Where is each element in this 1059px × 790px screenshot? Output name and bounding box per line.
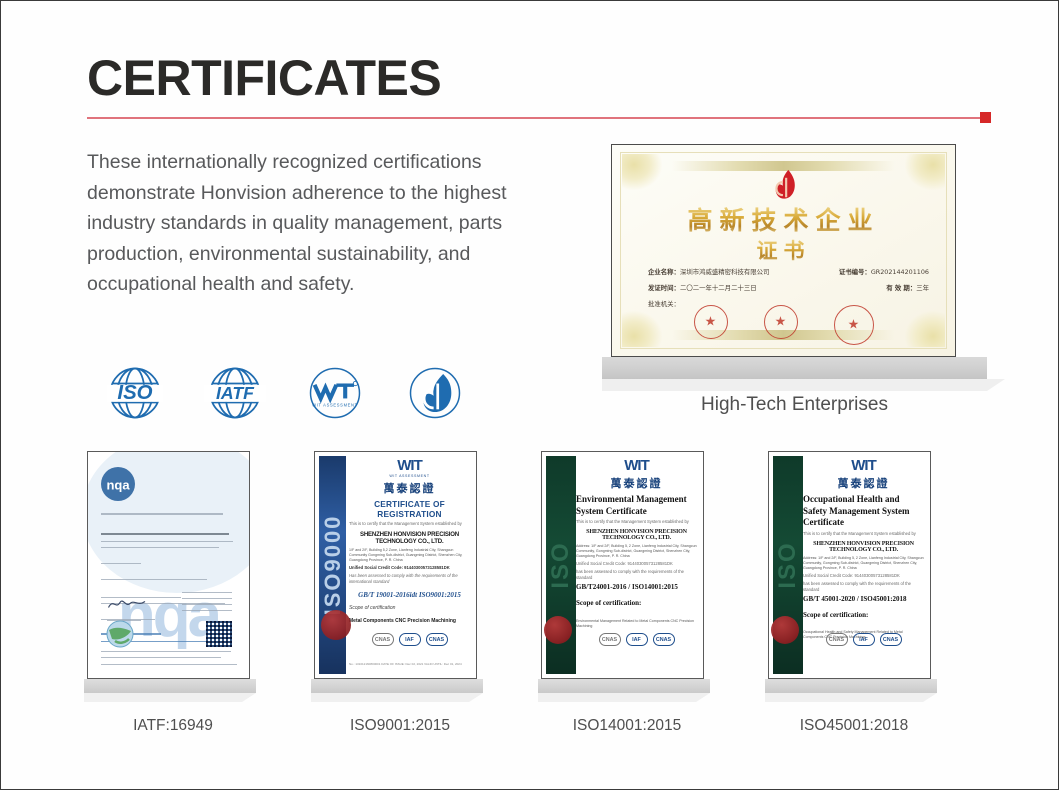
accreditation-badges: CNAS IAF CNAS [803, 633, 924, 646]
certificate-company: SHENZHEN HONVISION PRECISION TECHNOLOGY … [576, 529, 697, 541]
wit-logo-text: WIT [803, 458, 924, 473]
field-validity: 有 效 期：三年 [886, 283, 929, 292]
accreditation-badges: CNAS IAF CNAS [576, 633, 697, 646]
red-seal-stamp [544, 616, 572, 644]
certificate-scope-heading: Scope of certification: [576, 598, 697, 610]
certificate-standard: GB/T 45001-2020 / ISO45001:2018 [803, 595, 924, 603]
iatf-logo-icon: IATF [201, 359, 269, 427]
certificate-subline: This is to certify that the Management S… [576, 519, 697, 525]
field-issue-date: 发证时间：二〇二一年十二月二十三日 [648, 283, 757, 292]
issuer-cn-name: 萬泰認證 [349, 480, 470, 496]
signature-icon [107, 597, 147, 611]
intro-paragraph: These internationally recognized certifi… [87, 147, 567, 300]
iaf-badge: IAF [626, 633, 648, 646]
red-seal-stamp [694, 305, 728, 339]
iso45001-certificate-image: ISO WIT 萬泰認證 Occupational Health and Saf… [768, 451, 931, 679]
certificate-label-iso45001: ISO45001:2018 [768, 717, 940, 735]
iso-logo-icon: ISO [101, 359, 169, 427]
certificate-assessed-line: has been assessed to comply with the req… [803, 581, 924, 593]
gold-corner-ornament [622, 154, 662, 190]
iso-sidebar-text: ISO [774, 541, 802, 588]
certificate-grid: nqa nqa [87, 451, 987, 735]
certificates-page: CERTIFICATES These internationally recog… [0, 0, 1059, 790]
accreditation-badges: CNAS IAF CNAS [349, 633, 470, 646]
svg-text:ISO: ISO [117, 382, 152, 404]
featured-certificate[interactable]: 高新技术企业 证书 企业名称：深圳市鸿威盛精密科技有限公司 证书编号：GR202… [602, 144, 987, 379]
iso9000-sidebar-text: ISO9000 [320, 515, 346, 616]
featured-cn-title: 高新技术企业 [612, 201, 955, 237]
certificate-scope-heading: Scope of certification [349, 605, 470, 611]
red-seal-stamp [764, 305, 798, 339]
cnas-mark-icon: CNAS [826, 633, 848, 646]
svg-text:WIT ASSESSMENT: WIT ASSESSMENT [312, 403, 358, 408]
certificate-subline: This is to certify that the Management S… [803, 531, 924, 537]
qr-code-icon [206, 621, 232, 647]
nqa-logo-icon: nqa [101, 467, 135, 501]
iso14001-certificate-image: ISO WIT 萬泰認證 Environmental Management Sy… [541, 451, 704, 679]
wit-logo-text: WIT [576, 458, 697, 473]
iso45001-body: WIT 萬泰認證 Occupational Health and Safety … [803, 458, 924, 672]
globe-icon [105, 619, 135, 649]
red-seal-stamp [771, 616, 799, 644]
certificate-item-iso45001[interactable]: ISO WIT 萬泰認證 Occupational Health and Saf… [768, 451, 940, 735]
iso14001-body: WIT 萬泰認證 Environmental Management System… [576, 458, 697, 672]
cp-flame-logo-icon [401, 359, 469, 427]
certificate-heading: Environmental Management System Certific… [576, 494, 697, 517]
certificate-item-iso14001[interactable]: ISO WIT 萬泰認證 Environmental Management Sy… [541, 451, 713, 735]
gold-corner-ornament [905, 154, 945, 190]
iso9001-certificate-image: ISO9000 WIT WIT ASSESSMENT 萬泰認證 CERTIFIC… [314, 451, 477, 679]
iso-sidebar-text: ISO [547, 541, 575, 588]
cnas-mark-icon: CNAS [599, 633, 621, 646]
certificate-item-iso9001[interactable]: ISO9000 WIT WIT ASSESSMENT 萬泰認證 CERTIFIC… [314, 451, 486, 735]
certificate-heading: Occupational Health and Safety Managemen… [803, 494, 924, 529]
red-seal-stamp [834, 305, 874, 345]
certificate-standard: GB/T24001-2016 / ISO14001:2015 [576, 583, 697, 591]
wit-logo-subtext: WIT ASSESSMENT [349, 474, 470, 478]
featured-stamps [612, 305, 955, 345]
certificate-standard: GB/T 19001-2016idt ISO9001:2015 [349, 591, 470, 599]
iso9001-body: WIT WIT ASSESSMENT 萬泰認證 CERTIFICATE OF R… [349, 458, 470, 672]
iaf-badge: IAF [853, 633, 875, 646]
title-divider-endcap [980, 112, 991, 123]
cnas-badge: CNAS [653, 633, 675, 646]
accreditation-logo-row: ISO IATF WIT ASSESSMENT [101, 359, 469, 427]
certificate-assessed-line: Has been assessed to comply with the req… [349, 573, 470, 585]
certificate-label-iatf: IATF:16949 [87, 717, 259, 735]
cnas-badge: CNAS [426, 633, 448, 646]
certificate-address: Address: 1/F and 2/F, Building 5, 2 Zone… [803, 556, 924, 571]
featured-shelf [602, 357, 987, 379]
iaf-badge: IAF [399, 633, 421, 646]
certificate-label-iso14001: ISO14001:2015 [541, 717, 713, 735]
cnas-badge: CNAS [880, 633, 902, 646]
certificate-scope-heading: Scope of certification: [803, 610, 924, 622]
certificate-assessed-line: has been assessed to comply with the req… [576, 569, 697, 581]
wit-logo-icon: WIT ASSESSMENT [301, 359, 369, 427]
issuer-cn-name: 萬泰認證 [803, 475, 924, 491]
certificate-address: 1/F and 2/F, Building 5,2 Zone, Lianfeng… [349, 548, 470, 563]
page-title: CERTIFICATES [87, 53, 441, 103]
svg-text:IATF: IATF [216, 383, 255, 403]
certificate-footer: No.: 131012160800001 DATE OF ISSUE: Dec … [349, 662, 470, 666]
issuer-cn-name: 萬泰認證 [576, 475, 697, 491]
certificate-item-iatf[interactable]: nqa nqa [87, 451, 259, 735]
certificate-label-iso9001: ISO9001:2015 [314, 717, 486, 735]
certificate-shelf [311, 679, 483, 693]
featured-cn-subtitle: 证书 [612, 235, 955, 265]
certificate-credit-code: Unified Social Credit Code: 914403005731… [803, 573, 924, 579]
certificate-credit-code: Unified Social Credit Code: 914403005731… [349, 565, 470, 571]
title-divider [87, 117, 986, 119]
certificate-scope: Metal Components CNC Precision Machining [349, 618, 470, 624]
certificate-company: SHENZHEN HONVISION PRECISION TECHNOLOGY … [803, 541, 924, 553]
certificate-heading: CERTIFICATE OF REGISTRATION [349, 499, 470, 519]
certificate-shelf [84, 679, 256, 693]
certificate-scope: Environmental Management Related to Meta… [576, 619, 697, 629]
cnas-mark-icon: CNAS [372, 633, 394, 646]
cp-flame-emblem-icon [764, 167, 804, 203]
wit-logo-text: WIT [349, 458, 470, 473]
certificate-shelf [538, 679, 710, 693]
certificate-company: SHENZHEN HONVISION PRECISION TECHNOLOGY … [349, 531, 470, 545]
nqa-certificate-body: nqa nqa [93, 457, 244, 673]
certificate-address: Address: 1/F and 2/F, Building 5, 2 Zone… [576, 544, 697, 559]
iso9000-sidebar: ISO9000 [319, 456, 346, 674]
featured-caption: High-Tech Enterprises [602, 394, 987, 416]
certificate-credit-code: Unified Social Credit Code: 914403005731… [576, 561, 697, 567]
certificate-shelf [765, 679, 937, 693]
field-company: 企业名称：深圳市鸿威盛精密科技有限公司 [648, 267, 769, 276]
field-cert-no: 证书编号：GR202144201106 [839, 267, 929, 276]
high-tech-certificate-image: 高新技术企业 证书 企业名称：深圳市鸿威盛精密科技有限公司 证书编号：GR202… [611, 144, 956, 357]
red-seal-stamp [321, 610, 351, 640]
nqa-logo-text: nqa [106, 477, 129, 492]
iatf-certificate-image: nqa nqa [87, 451, 250, 679]
certificate-subline: This is to certify that the Management S… [349, 521, 470, 527]
